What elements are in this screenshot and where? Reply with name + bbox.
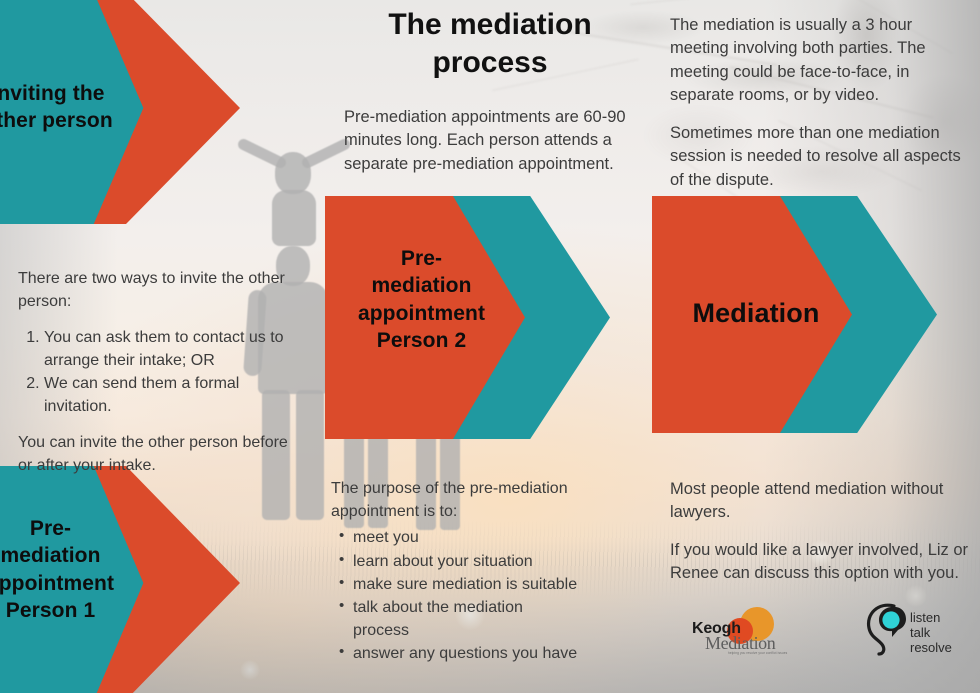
purpose-intro: The purpose of the pre-mediation appoint… xyxy=(331,478,581,523)
keogh-mediation-logo: Keogh Mediation helping you resolve your… xyxy=(692,604,812,660)
list-item: You can ask them to contact us to arrang… xyxy=(44,327,306,372)
list-item: We can send them a formal invitation. xyxy=(44,373,306,418)
right-paragraph-2: Sometimes more than one mediation sessio… xyxy=(670,122,966,192)
center-subtitle: Pre-mediation appointments are 60-90 min… xyxy=(344,106,634,176)
step-label-inviting: Inviting the other person xyxy=(0,80,148,135)
invite-options-list: You can ask them to contact us to arrang… xyxy=(18,327,306,418)
center-purpose-block: The purpose of the pre-mediation appoint… xyxy=(331,478,581,666)
keogh-logo-tagline: helping you resolve your conflict issues xyxy=(728,651,787,655)
right-paragraph-4: If you would like a lawyer involved, Liz… xyxy=(670,539,970,586)
page-title: The mediation process xyxy=(330,6,650,83)
list-item: make sure mediation is suitable xyxy=(353,573,581,596)
ear-speech-bubble-icon xyxy=(864,602,912,656)
logo-line-talk: talk xyxy=(910,625,952,640)
list-item: talk about the mediation process xyxy=(353,596,581,642)
center-subtitle-text: Pre-mediation appointments are 60-90 min… xyxy=(344,106,634,176)
left-column-text: There are two ways to invite the other p… xyxy=(18,268,306,477)
left-outro: You can invite the other person before o… xyxy=(18,432,306,477)
right-paragraph-3: Most people attend mediation without law… xyxy=(670,478,970,525)
list-item: answer any questions you have xyxy=(353,642,581,665)
right-column-bottom: Most people attend mediation without law… xyxy=(670,478,970,586)
right-column-top: The mediation is usually a 3 hour meetin… xyxy=(670,14,966,192)
logo-line-listen: listen xyxy=(910,610,952,625)
listen-talk-resolve-wordmark: listen talk resolve xyxy=(910,610,952,655)
step-label-pre-mediation-person-2: Pre- mediation appointment Person 2 xyxy=(330,245,513,354)
step-label-pre-mediation-person-1: Pre- mediation appointment Person 1 xyxy=(0,515,153,624)
infographic-canvas: Inviting the other person Pre- mediation… xyxy=(0,0,980,693)
listen-talk-resolve-logo: listen talk resolve xyxy=(864,602,976,658)
step-label-mediation: Mediation xyxy=(660,296,852,331)
right-paragraph-1: The mediation is usually a 3 hour meetin… xyxy=(670,14,966,108)
logo-line-resolve: resolve xyxy=(910,640,952,655)
list-item: learn about your situation xyxy=(353,550,581,573)
purpose-list: meet you learn about your situation make… xyxy=(331,526,581,665)
list-item: meet you xyxy=(353,526,581,549)
left-intro: There are two ways to invite the other p… xyxy=(18,268,306,313)
